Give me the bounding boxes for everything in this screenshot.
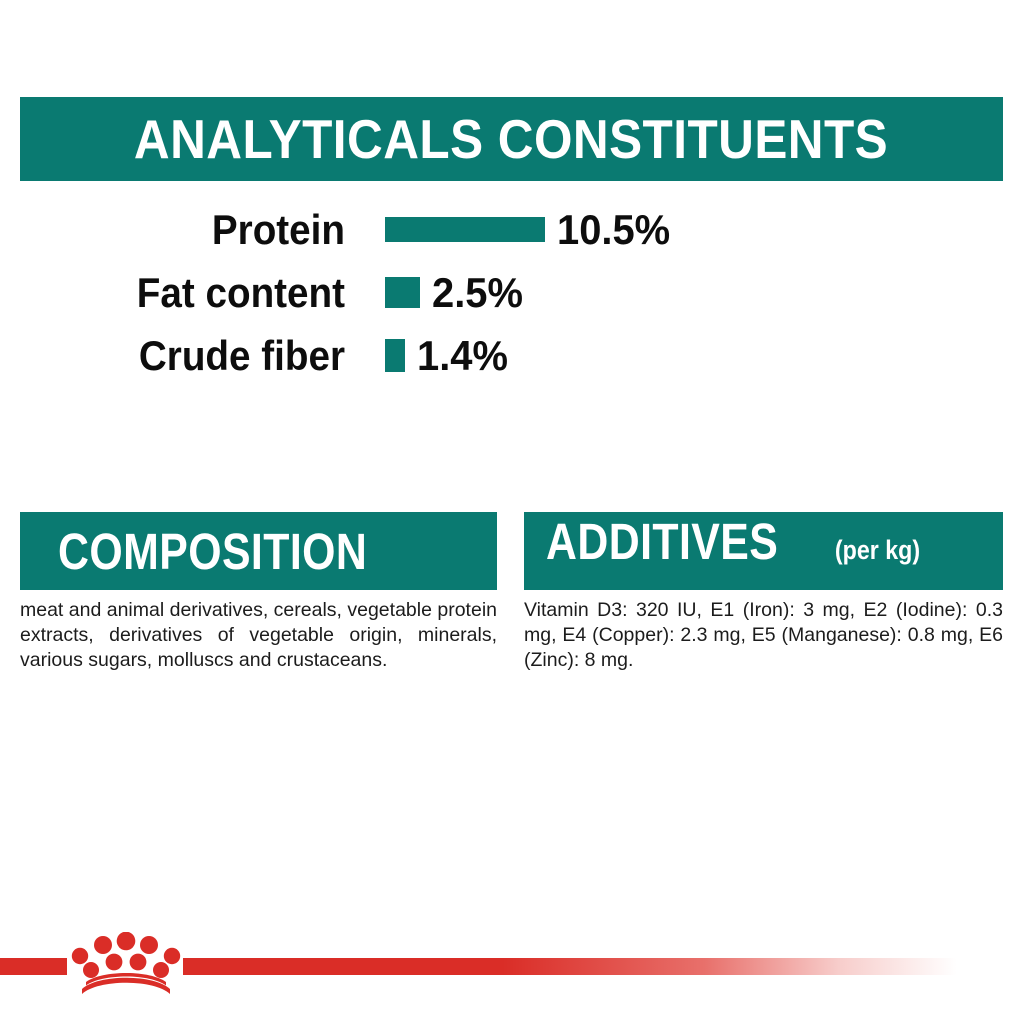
additives-header: ADDITIVES (per kg) xyxy=(524,512,1003,590)
footer-rule-right xyxy=(183,958,1024,975)
additives-body-text: Vitamin D3: 320 IU, E1 (Iron): 3 mg, E2 … xyxy=(524,598,1003,673)
footer-rule-left xyxy=(0,958,67,975)
analyticals-value-fat-content: 2.5% xyxy=(432,272,523,314)
additives-header-subtitle: (per kg) xyxy=(834,535,919,566)
nutrition-panel-page: ANALYTICALS CONSTITUENTS Protein 10.5% F… xyxy=(0,0,1024,1024)
analyticals-label-crude-fiber: Crude fiber xyxy=(28,335,345,377)
additives-header-title: ADDITIVES xyxy=(546,512,778,571)
analyticals-value-protein: 10.5% xyxy=(557,209,670,251)
analyticals-row-crude-fiber: Crude fiber 1.4% xyxy=(0,324,1024,387)
analyticals-barwrap-fat-content: 2.5% xyxy=(385,272,528,314)
analyticals-barwrap-protein: 10.5% xyxy=(385,209,676,251)
analyticals-bar-protein xyxy=(385,217,545,242)
analyticals-bar-chart: Protein 10.5% Fat content 2.5% Crude fib… xyxy=(0,198,1024,387)
composition-header: COMPOSITION xyxy=(20,512,497,590)
analyticals-barwrap-crude-fiber: 1.4% xyxy=(385,335,513,377)
composition-header-title: COMPOSITION xyxy=(58,522,367,581)
analyticals-row-fat-content: Fat content 2.5% xyxy=(0,261,1024,324)
analyticals-constituents-header: ANALYTICALS CONSTITUENTS xyxy=(20,97,1003,181)
analyticals-label-protein: Protein xyxy=(28,209,345,251)
analyticals-bar-crude-fiber xyxy=(385,339,405,372)
royal-canin-crown-icon xyxy=(70,932,182,994)
analyticals-label-fat-content: Fat content xyxy=(28,272,345,314)
composition-body-text: meat and animal derivatives, cereals, ve… xyxy=(20,598,497,673)
additives-header-inner: ADDITIVES (per kg) xyxy=(546,512,1003,571)
analyticals-row-protein: Protein 10.5% xyxy=(0,198,1024,261)
analyticals-bar-fat-content xyxy=(385,277,420,308)
analyticals-header-title: ANALYTICALS CONSTITUENTS xyxy=(134,112,888,167)
analyticals-value-crude-fiber: 1.4% xyxy=(417,335,508,377)
